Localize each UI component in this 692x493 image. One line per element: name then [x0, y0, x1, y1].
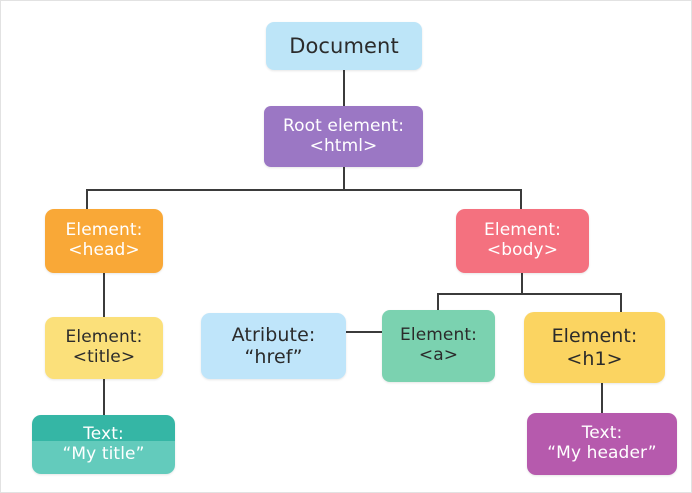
edge-html-stem — [343, 167, 345, 190]
node-element-a[interactable]: Element: <a> — [382, 310, 495, 382]
node-element-head[interactable]: Element: <head> — [45, 209, 163, 273]
node-document-label: Document — [289, 34, 399, 58]
node-head-label-primary: Element: — [66, 221, 143, 241]
edge-body-anchor — [437, 293, 439, 311]
node-text-my-header[interactable]: Text: “My header” — [527, 413, 677, 475]
edge-html-body — [520, 189, 522, 210]
edge-anchor-attribute — [346, 331, 383, 333]
node-root-element-html[interactable]: Root element: <html> — [264, 106, 423, 167]
dom-tree-diagram: Document Root element: <html> Element: <… — [0, 0, 692, 493]
node-text-title-label-secondary: “My title” — [63, 445, 145, 465]
node-element-body[interactable]: Element: <body> — [456, 209, 589, 273]
edge-body-bus — [437, 293, 622, 295]
edge-html-bus — [86, 189, 521, 191]
node-attribute-label-primary: Atribute: — [232, 324, 316, 346]
node-element-h1[interactable]: Element: <h1> — [524, 312, 665, 383]
node-html-label-secondary: <html> — [310, 137, 378, 157]
node-a-label-secondary: <a> — [419, 346, 458, 366]
node-attribute-label-secondary: “href” — [244, 346, 302, 368]
edge-html-head — [86, 189, 88, 210]
edge-head-title — [103, 273, 105, 318]
node-body-label-primary: Element: — [484, 221, 561, 241]
node-h1-label-primary: Element: — [552, 325, 638, 347]
node-text-my-title[interactable]: Text: “My title” — [32, 415, 175, 474]
node-body-label-secondary: <body> — [487, 241, 558, 261]
edge-title-text — [103, 379, 105, 416]
node-a-label-primary: Element: — [400, 326, 477, 346]
node-html-label-primary: Root element: — [283, 117, 404, 137]
node-document[interactable]: Document — [266, 22, 422, 70]
edge-h1-text — [601, 383, 603, 415]
node-attribute-href[interactable]: Atribute: “href” — [201, 313, 346, 379]
node-text-title-label-primary: Text: — [83, 425, 124, 445]
node-element-title[interactable]: Element: <title> — [45, 317, 163, 379]
node-head-label-secondary: <head> — [68, 241, 140, 261]
edge-body-stem — [521, 273, 523, 295]
node-title-label-primary: Element: — [66, 328, 143, 348]
node-text-header-label-primary: Text: — [582, 424, 623, 444]
edge-body-h1 — [620, 293, 622, 313]
edge-document-html — [343, 70, 345, 107]
node-text-header-label-secondary: “My header” — [547, 444, 656, 464]
node-h1-label-secondary: <h1> — [566, 348, 622, 370]
node-title-label-secondary: <title> — [73, 348, 135, 368]
